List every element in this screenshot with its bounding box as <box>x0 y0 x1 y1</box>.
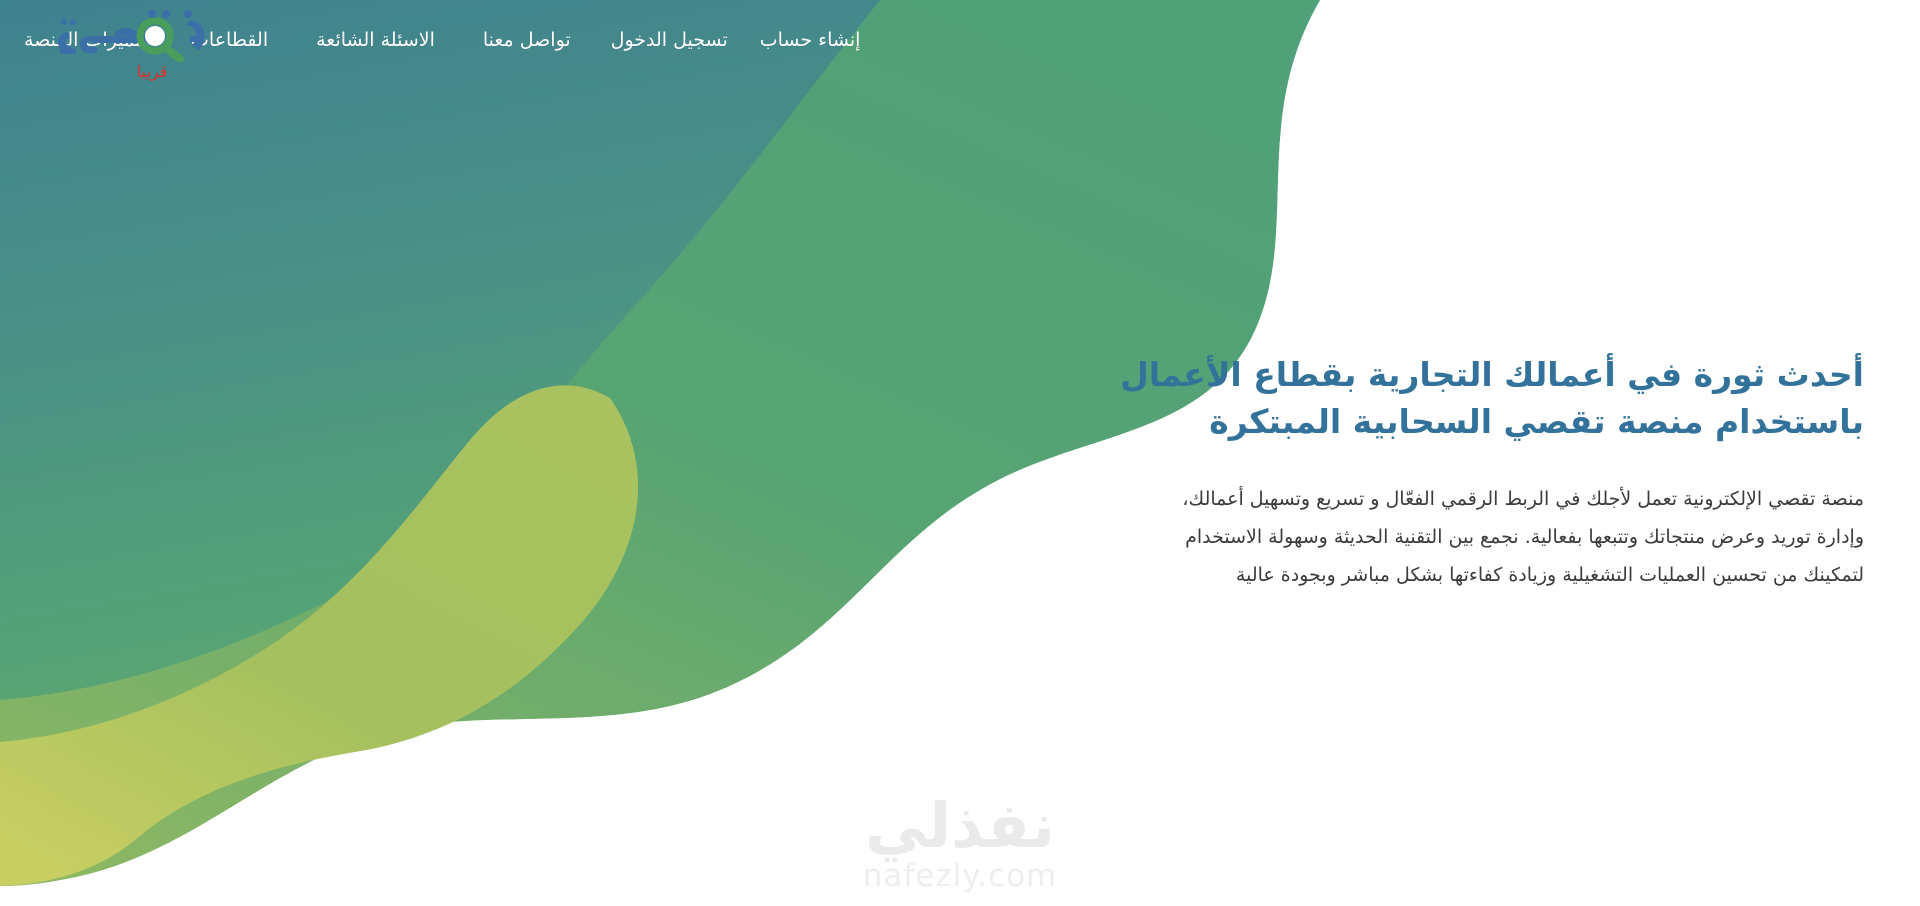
nav-item-login[interactable]: تسجيل الدخول <box>611 25 728 56</box>
hero-title: أحدث ثورة في أعمالك التجارية بقطاع الأعم… <box>1104 352 1864 446</box>
nav-item-contact-us[interactable]: تواصل معنا <box>483 25 571 56</box>
hero-section: أحدث ثورة في أعمالك التجارية بقطاع الأعم… <box>1104 352 1864 594</box>
hero-description-line-3: لتمكينك من تحسين العمليات التشغيلية وزيا… <box>1104 556 1864 594</box>
site-logo[interactable]: قريبا <box>40 6 230 84</box>
logo-coming-soon-badge: قريبا <box>40 64 264 80</box>
logo-taqassi-icon <box>40 6 230 62</box>
watermark-domain-text: nafezly.com <box>863 861 1058 892</box>
top-navigation-bar: مميزات المنصة القطاعات الاسئلة الشائعة ت… <box>0 0 1920 80</box>
nav-item-faq[interactable]: الاسئلة الشائعة <box>316 25 435 56</box>
nav-item-create-account[interactable]: إنشاء حساب <box>760 25 861 56</box>
nafezly-watermark: نفذلي nafezly.com <box>863 795 1058 892</box>
wave-shape-yellow <box>0 385 638 886</box>
hero-description-line-1: منصة تقصي الإلكترونية تعمل لأجلك في الرب… <box>1104 480 1864 518</box>
landing-page: مميزات المنصة القطاعات الاسئلة الشائعة ت… <box>0 0 1920 906</box>
hero-description-line-2: وإدارة توريد وعرض منتجاتك وتتبعها بفعالي… <box>1104 518 1864 556</box>
watermark-arabic-text: نفذلي <box>863 795 1058 857</box>
hero-description: منصة تقصي الإلكترونية تعمل لأجلك في الرب… <box>1104 480 1864 594</box>
logo-magnifier-icon <box>140 21 180 59</box>
